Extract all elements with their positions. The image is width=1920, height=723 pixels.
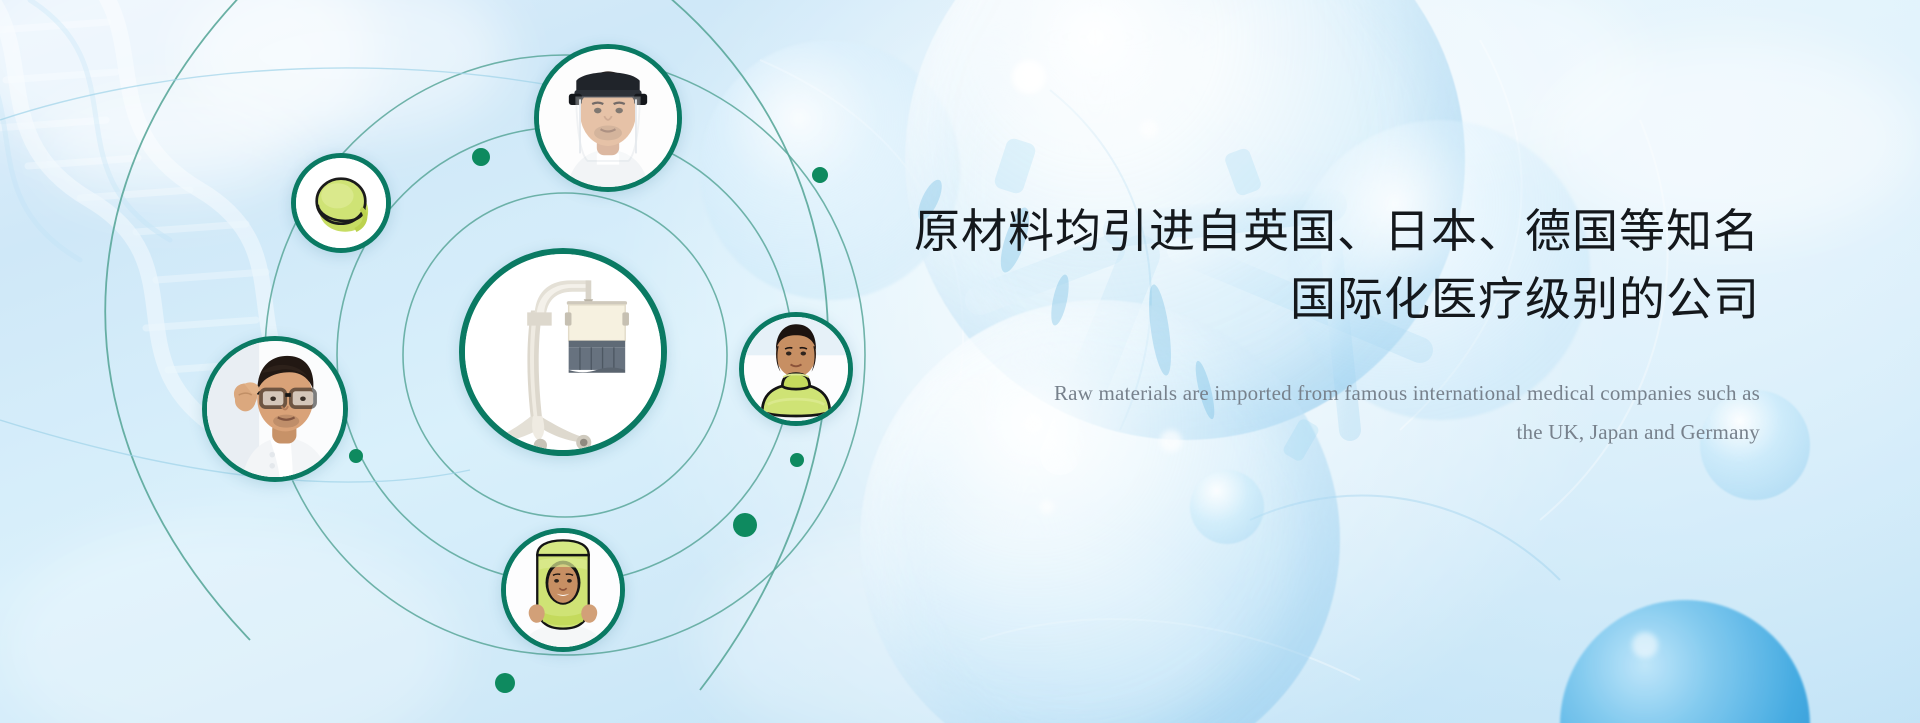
headline-line-2: 国际化医疗级别的公司 (840, 268, 1760, 330)
sphere-highlight (1040, 500, 1054, 514)
blue-accent-sphere (1560, 600, 1810, 723)
product-node-lead-cap[interactable] (291, 153, 391, 253)
orbit-dot-2 (812, 167, 828, 183)
woman-wearing-thyroid-collar (744, 317, 848, 421)
man-wearing-radiation-face-shield (539, 49, 677, 187)
cloud-shape (1180, 0, 1640, 170)
banner-copy: 原材料均引进自英国、日本、德国等知名 国际化医疗级别的公司 Raw materi… (840, 200, 1760, 452)
orbit-sweep-left (105, 0, 300, 640)
orbit-dot-1 (472, 148, 490, 166)
product-node-lead-hood[interactable] (501, 528, 625, 652)
product-node-face-shield[interactable] (534, 44, 682, 192)
sphere-highlight (1140, 120, 1158, 138)
product-node-lead-glasses[interactable] (202, 336, 348, 482)
molecule-sphere (1190, 470, 1264, 544)
product-node-mobile-barrier[interactable] (459, 248, 667, 456)
orbit-dot-4 (790, 453, 804, 467)
subtitle-block: Raw materials are imported from famous i… (840, 374, 1760, 452)
orbit-dot-3 (349, 449, 363, 463)
subtitle-line-2: the UK, Japan and Germany (840, 413, 1760, 452)
hero-banner: 原材料均引进自英国、日本、德国等知名 国际化医疗级别的公司 Raw materi… (0, 0, 1920, 723)
orbit-dot-6 (495, 673, 515, 693)
orbit-dot-5 (733, 513, 757, 537)
mobile-x-ray-protective-barrier (465, 254, 661, 450)
sphere-highlight (1632, 632, 1658, 658)
sphere-highlight (1012, 60, 1046, 94)
product-node-thyroid-collar[interactable] (739, 312, 853, 426)
green-lead-protective-cap (296, 158, 386, 248)
subtitle-line-1: Raw materials are imported from famous i… (840, 374, 1760, 413)
man-wearing-lead-glasses (207, 341, 343, 477)
woman-wearing-lead-hood (506, 533, 620, 647)
headline-line-1: 原材料均引进自英国、日本、德国等知名 (840, 200, 1760, 262)
